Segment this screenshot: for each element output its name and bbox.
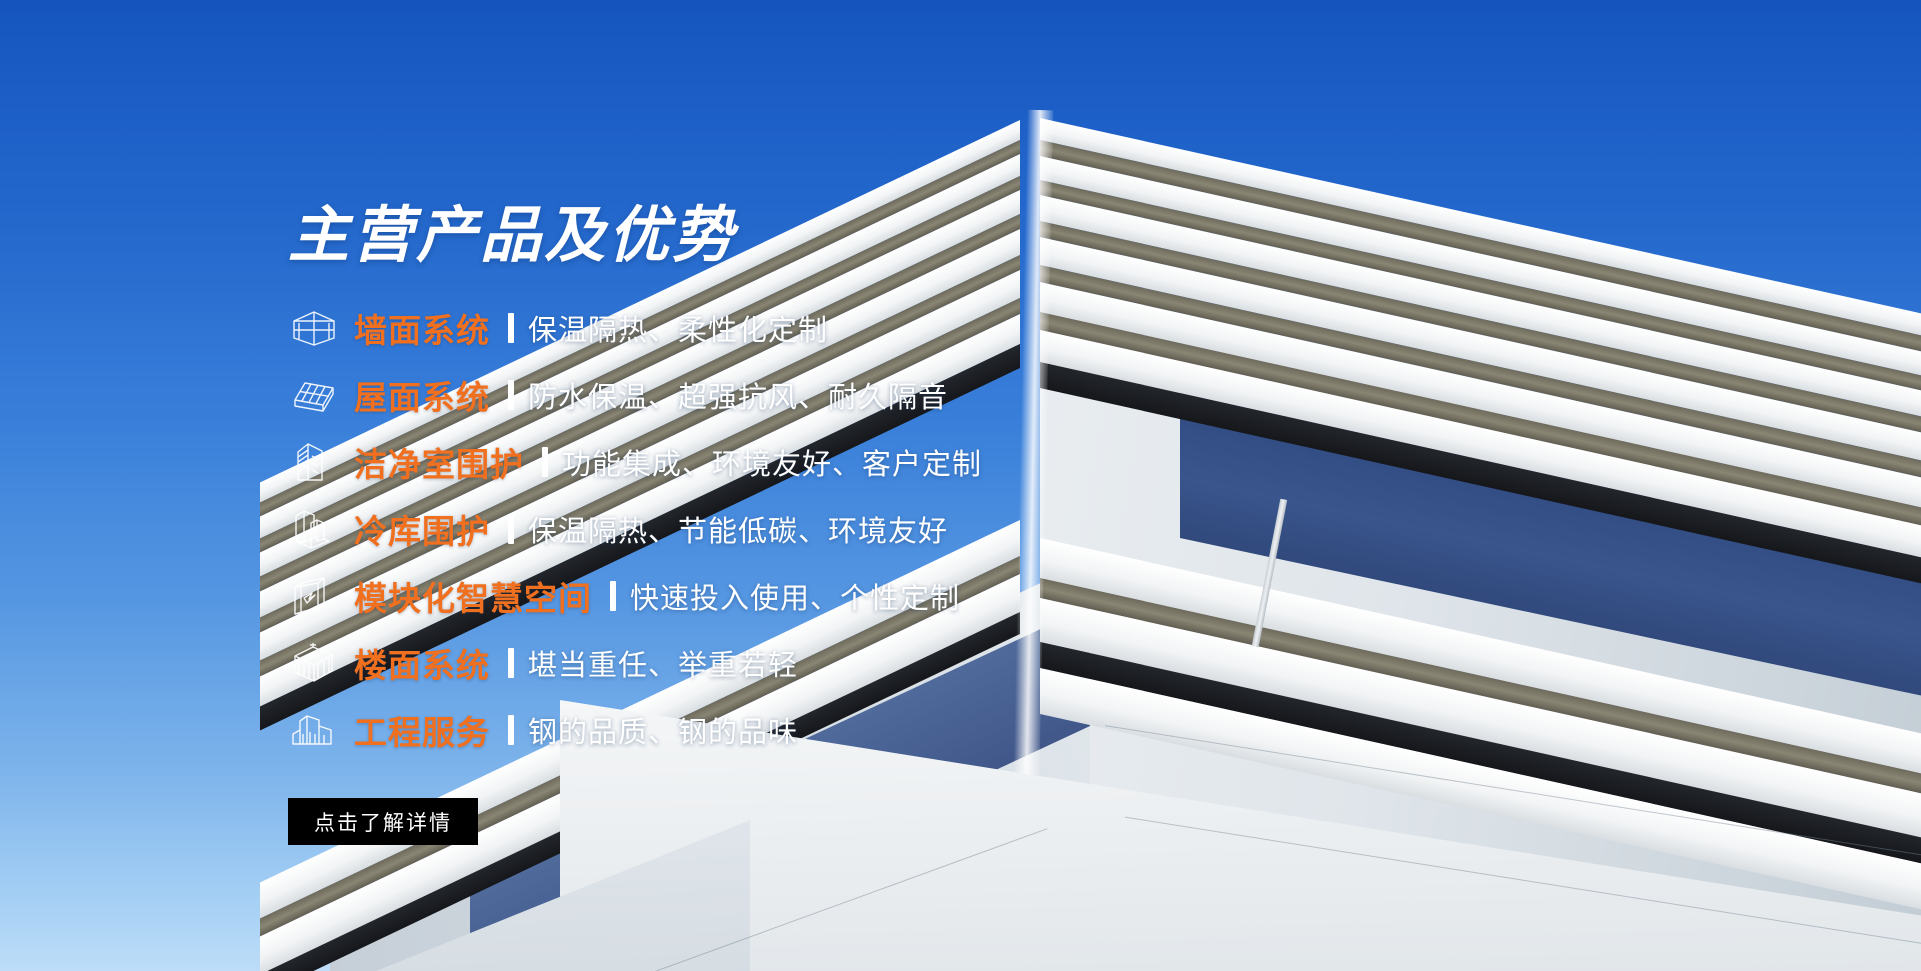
separator-bar — [508, 715, 514, 745]
product-name: 洁净室围护 — [354, 438, 524, 486]
separator-bar — [508, 514, 514, 544]
separator-bar — [508, 313, 514, 343]
separator-bar — [610, 581, 616, 611]
product-name: 冷库围护 — [354, 505, 490, 553]
wall-frame-icon — [288, 306, 340, 350]
product-desc: 功能集成、环境友好、客户定制 — [562, 441, 982, 483]
floor-deck-icon — [288, 641, 340, 685]
product-name: 工程服务 — [354, 706, 490, 754]
modular-cube-icon — [288, 574, 340, 618]
cold-storage-icon — [288, 507, 340, 551]
product-desc: 钢的品质、钢的品味 — [528, 709, 798, 751]
cleanroom-building-icon — [288, 440, 340, 484]
list-item[interactable]: 楼面系统 堪当重任、举重若轻 — [288, 635, 1388, 691]
list-item[interactable]: 模块化智慧空间 快速投入使用、个性定制 — [288, 568, 1388, 624]
engineering-service-icon — [288, 708, 340, 752]
separator-bar — [542, 447, 548, 477]
product-desc: 保温隔热、柔性化定制 — [528, 307, 828, 349]
product-name: 模块化智慧空间 — [354, 572, 592, 620]
list-item[interactable]: 墙面系统 保温隔热、柔性化定制 — [288, 300, 1388, 356]
list-item[interactable]: 工程服务 钢的品质、钢的品味 — [288, 702, 1388, 758]
product-name: 楼面系统 — [354, 639, 490, 687]
product-name: 墙面系统 — [354, 304, 490, 352]
separator-bar — [508, 380, 514, 410]
list-item[interactable]: 洁净室围护 功能集成、环境友好、客户定制 — [288, 434, 1388, 490]
separator-bar — [508, 648, 514, 678]
hero-banner: 主营产品及优势 墙面系统 保温隔热、柔性化定制 — [0, 0, 1921, 971]
product-desc: 防水保温、超强抗风、耐久隔音 — [528, 374, 948, 416]
list-item[interactable]: 冷库围护 保温隔热、节能低碳、环境友好 — [288, 501, 1388, 557]
roof-panel-icon — [288, 373, 340, 417]
product-name: 屋面系统 — [354, 371, 490, 419]
learn-more-button[interactable]: 点击了解详情 — [288, 798, 478, 845]
list-item[interactable]: 屋面系统 防水保温、超强抗风、耐久隔音 — [288, 367, 1388, 423]
product-desc: 快速投入使用、个性定制 — [630, 575, 960, 617]
product-desc: 保温隔热、节能低碳、环境友好 — [528, 508, 948, 550]
product-desc: 堪当重任、举重若轻 — [528, 642, 798, 684]
product-list: 墙面系统 保温隔热、柔性化定制 屋面系统 防水保温、超强抗风、 — [288, 300, 1388, 769]
page-title: 主营产品及优势 — [288, 205, 736, 266]
